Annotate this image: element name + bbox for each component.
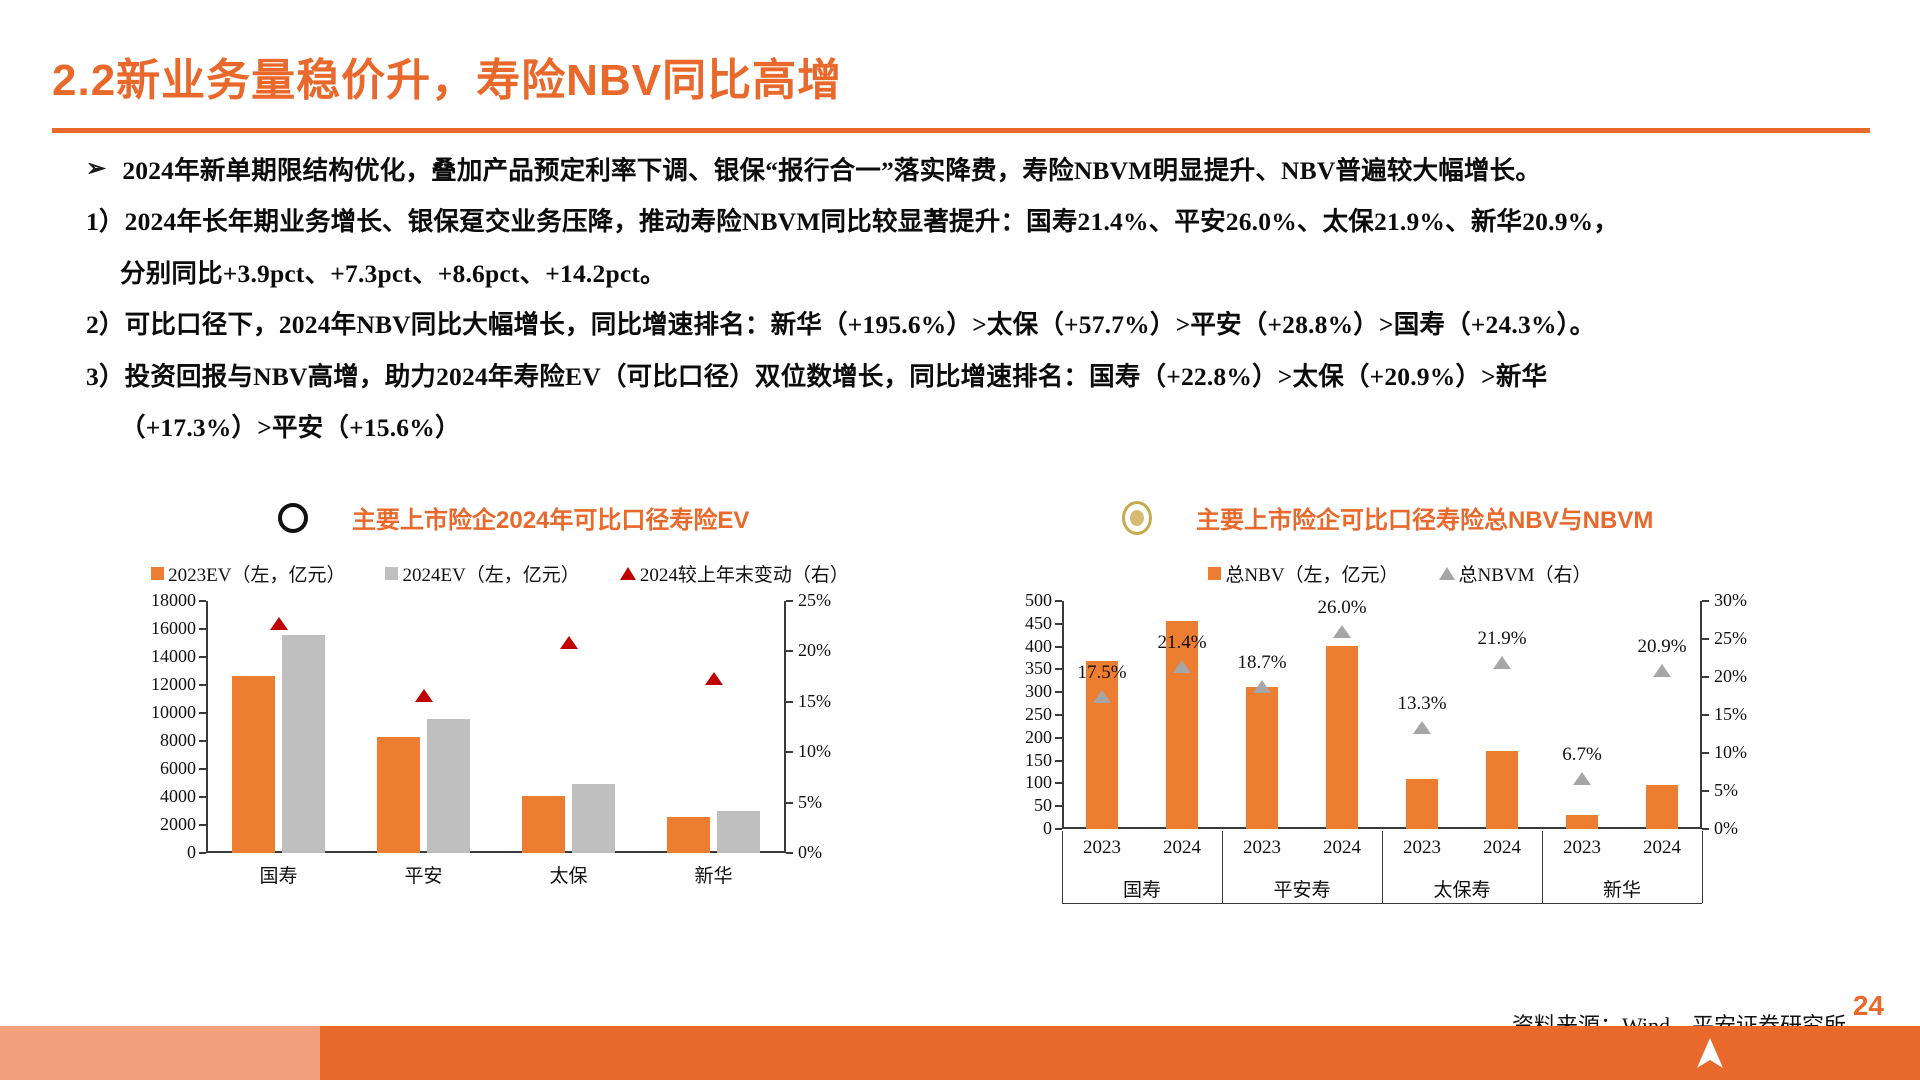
x-axis-category-label: 新华 [641, 861, 786, 888]
x-axis-category-label: 国寿 [206, 861, 351, 888]
y-axis-tick-right [1702, 714, 1709, 716]
x-axis-group-separator [1542, 831, 1543, 903]
y-axis-tick-label-left: 4000 [120, 786, 196, 807]
y-axis-tick-label-left: 250 [1000, 704, 1052, 725]
y-axis-tick-right [1702, 600, 1709, 602]
x-axis-category-label: 2024 [1462, 837, 1542, 859]
y-axis-tick-left [199, 684, 206, 686]
data-point-marker [1653, 664, 1671, 677]
y-axis-tick-label-left: 450 [1000, 613, 1052, 634]
y-axis-tick-label-right: 10% [798, 741, 831, 762]
legend-swatch-square [1208, 567, 1221, 580]
y-axis-tick-right [1702, 828, 1709, 830]
data-point-marker [1173, 660, 1191, 673]
footer-bar [0, 1026, 1920, 1080]
y-axis-tick-left [1055, 714, 1062, 716]
y-axis-tick-label-left: 300 [1000, 681, 1052, 702]
bar [1246, 687, 1278, 829]
y-axis-tick-label-right: 15% [798, 691, 831, 712]
bar [1086, 661, 1118, 829]
bullet-arrow-icon: ➢ [86, 148, 106, 191]
x-axis-category-label: 2024 [1142, 837, 1222, 859]
bar [232, 676, 276, 853]
circle-outline-icon [278, 503, 308, 533]
y-axis-tick-left [1055, 805, 1062, 807]
x-axis-group-separator [1222, 831, 1223, 903]
lead-paragraph: ➢ 2024年新单期限结构优化，叠加产品预定利率下调、银保“报行合一”落实降费，… [86, 148, 1886, 193]
data-label: 21.4% [1137, 632, 1227, 654]
y-axis-tick-label-right: 25% [1714, 628, 1747, 649]
y-axis-tick-left [1055, 623, 1062, 625]
y-axis-tick-left [199, 656, 206, 658]
data-point-marker [1493, 656, 1511, 669]
legend-item-label: 总NBV（左，亿元） [1225, 560, 1398, 587]
ev-chart-legend: 2023EV（左，亿元）2024EV（左，亿元）2024较上年末变动（右） [120, 560, 880, 587]
nbv-chart: 总NBV（左，亿元）总NBVM（右） 500450400350300250200… [1000, 560, 1800, 820]
legend-item: 总NBVM（右） [1439, 560, 1592, 587]
legend-item: 2024EV（左，亿元） [385, 560, 579, 587]
y-axis-tick-left [1055, 737, 1062, 739]
body-text-block: ➢ 2024年新单期限结构优化，叠加产品预定利率下调、银保“报行合一”落实降费，… [86, 148, 1886, 456]
y-axis-tick-left [199, 712, 206, 714]
bar [282, 635, 326, 853]
y-axis-tick-right [1702, 676, 1709, 678]
y-axis-tick-left [199, 768, 206, 770]
nbv-chart-legend: 总NBV（左，亿元）总NBVM（右） [1000, 560, 1800, 587]
bar [1646, 785, 1678, 829]
x-axis-group-label: 新华 [1542, 875, 1702, 902]
bar [717, 811, 761, 853]
y-axis-tick-right [786, 751, 793, 753]
y-axis-tick-label-left: 100 [1000, 772, 1052, 793]
y-axis-tick-label-left: 350 [1000, 658, 1052, 679]
x-axis-band-edge [1062, 831, 1063, 903]
legend-item-label: 2024EV（左，亿元） [402, 560, 579, 587]
y-axis-tick-label-left: 200 [1000, 727, 1052, 748]
y-axis-tick-label-left: 10000 [120, 702, 196, 723]
ev-chart: 2023EV（左，亿元）2024EV（左，亿元）2024较上年末变动（右） 18… [120, 560, 880, 820]
x-axis-group-label: 平安寿 [1222, 875, 1382, 902]
y-axis-tick-left [1055, 828, 1062, 830]
y-axis-tick-right [1702, 790, 1709, 792]
data-point-marker [1093, 690, 1111, 703]
y-axis-tick-right [786, 802, 793, 804]
x-axis-category-label: 2023 [1542, 837, 1622, 859]
legend-swatch-triangle [1439, 567, 1455, 580]
bar [427, 719, 471, 853]
data-label: 21.9% [1457, 628, 1547, 650]
data-point-marker [560, 636, 578, 649]
y-axis-tick-label-left: 18000 [120, 590, 196, 611]
y-axis-tick-label-left: 16000 [120, 618, 196, 639]
data-point-marker [1573, 772, 1591, 785]
x-axis-group-separator [1382, 831, 1383, 903]
data-point-marker [1333, 625, 1351, 638]
y-axis-tick-left [1055, 782, 1062, 784]
data-label: 20.9% [1617, 636, 1707, 658]
x-axis-group-label: 国寿 [1062, 875, 1222, 902]
y-axis-tick-left [199, 852, 206, 854]
x-axis-band-baseline [1062, 903, 1702, 904]
y-axis-tick-label-right: 0% [798, 842, 822, 863]
page-number: 24 [1853, 990, 1884, 1022]
y-axis-tick-label-left: 8000 [120, 730, 196, 751]
data-point-marker [1253, 680, 1271, 693]
y-axis-tick-left [1055, 760, 1062, 762]
legend-item: 2024较上年末变动（右） [620, 560, 849, 587]
y-axis-tick-left [1055, 691, 1062, 693]
data-point-marker [1413, 721, 1431, 734]
nbv-chart-plot-area: 50045040035030025020015010050030%25%20%1… [1000, 601, 1800, 919]
legend-item: 2023EV（左，亿元） [151, 560, 345, 587]
y-axis-tick-label-left: 500 [1000, 590, 1052, 611]
y-axis-tick-right [786, 701, 793, 703]
y-axis-tick-left [1055, 646, 1062, 648]
bar [1326, 646, 1358, 829]
bar [377, 737, 421, 853]
legend-item: 总NBV（左，亿元） [1208, 560, 1398, 587]
bar [1486, 751, 1518, 829]
data-label: 6.7% [1537, 744, 1627, 766]
point-1-line-2: 分别同比+3.9pct、+7.3pct、+8.6pct、+14.2pct。 [86, 251, 1886, 296]
bar [1406, 779, 1438, 829]
y-axis-tick-left [199, 628, 206, 630]
data-label: 26.0% [1297, 597, 1387, 619]
y-axis-tick-label-right: 20% [798, 640, 831, 661]
x-axis-category-label: 2023 [1222, 837, 1302, 859]
y-axis-tick-label-left: 50 [1000, 795, 1052, 816]
y-axis-tick-label-left: 400 [1000, 636, 1052, 657]
x-axis-category-label: 2023 [1382, 837, 1462, 859]
legend-item-label: 2023EV（左，亿元） [168, 560, 345, 587]
legend-swatch-square [385, 567, 398, 580]
y-axis-tick-label-right: 20% [1714, 666, 1747, 687]
lead-paragraph-text: 2024年新单期限结构优化，叠加产品预定利率下调、银保“报行合一”落实降费，寿险… [122, 148, 1541, 193]
y-axis-tick-label-right: 10% [1714, 742, 1747, 763]
data-point-marker [415, 689, 433, 702]
y-axis-tick-left [199, 796, 206, 798]
y-axis-tick-right [786, 852, 793, 854]
y-axis-tick-left [1055, 600, 1062, 602]
ev-chart-plot-area: 1800016000140001200010000800060004000200… [120, 601, 880, 943]
chart-heading-nbv-label: 主要上市险企可比口径寿险总NBV与NBVM [1196, 500, 1653, 535]
data-label: 13.3% [1377, 693, 1467, 715]
brand-logo-icon [1690, 1034, 1730, 1074]
bar [1566, 815, 1598, 829]
x-axis-category-label: 2024 [1302, 837, 1382, 859]
legend-swatch-square [151, 567, 164, 580]
chart-heading-nbv: 主要上市险企可比口径寿险总NBV与NBVM [1122, 500, 1653, 535]
data-label: 18.7% [1217, 652, 1307, 674]
y-axis-tick-label-left: 0 [120, 842, 196, 863]
x-axis-group-label: 太保寿 [1382, 875, 1542, 902]
chart-heading-ev-label: 主要上市险企2024年可比口径寿险EV [352, 500, 749, 535]
chart-heading-ev: 主要上市险企2024年可比口径寿险EV [278, 500, 749, 535]
point-3-line-2: （+17.3%）>平安（+15.6%） [86, 405, 1886, 450]
y-axis-tick-right [1702, 752, 1709, 754]
y-axis-tick-label-left: 150 [1000, 750, 1052, 771]
title-divider [52, 128, 1870, 133]
x-axis-category-label: 2023 [1062, 837, 1142, 859]
bar [522, 796, 566, 853]
legend-item-label: 总NBVM（右） [1459, 560, 1592, 587]
bar [572, 784, 616, 853]
y-axis-tick-left [199, 824, 206, 826]
y-axis-tick-label-left: 2000 [120, 814, 196, 835]
y-axis-tick-right [786, 600, 793, 602]
x-axis-category-label: 太保 [496, 861, 641, 888]
bar [667, 817, 711, 853]
y-axis-tick-left [199, 740, 206, 742]
x-axis-band-edge [1702, 831, 1703, 903]
y-axis-tick-label-right: 15% [1714, 704, 1747, 725]
data-point-marker [705, 672, 723, 685]
x-axis-category-label: 平安 [351, 861, 496, 888]
y-axis-tick-right [786, 650, 793, 652]
legend-item-label: 2024较上年末变动（右） [640, 560, 849, 587]
y-axis-tick-left [199, 600, 206, 602]
point-1-line-1: 1）2024年长年期业务增长、银保趸交业务压降，推动寿险NBVM同比较显著提升：… [86, 199, 1886, 244]
data-point-marker [270, 617, 288, 630]
y-axis-tick-label-right: 0% [1714, 818, 1738, 839]
point-2: 2）可比口径下，2024年NBV同比大幅增长，同比增速排名：新华（+195.6%… [86, 302, 1886, 347]
y-axis-tick-label-right: 5% [798, 792, 822, 813]
point-3-line-1: 3）投资回报与NBV高增，助力2024年寿险EV（可比口径）双位数增长，同比增速… [86, 354, 1886, 399]
y-axis-tick-label-right: 25% [798, 590, 831, 611]
y-axis-tick-label-left: 12000 [120, 674, 196, 695]
y-axis-tick-label-right: 30% [1714, 590, 1747, 611]
y-axis-tick-label-left: 0 [1000, 818, 1052, 839]
y-axis-tick-label-left: 6000 [120, 758, 196, 779]
footer-accent-wedge [0, 1026, 320, 1080]
y-axis-tick-label-right: 5% [1714, 780, 1738, 801]
legend-swatch-triangle [620, 567, 636, 580]
page-title: 2.2新业务量稳价升，寿险NBV同比高增 [52, 44, 842, 108]
data-label: 17.5% [1057, 662, 1147, 684]
circle-filled-ring-icon [1122, 501, 1152, 535]
x-axis-category-label: 2024 [1622, 837, 1702, 859]
y-axis-tick-label-left: 14000 [120, 646, 196, 667]
